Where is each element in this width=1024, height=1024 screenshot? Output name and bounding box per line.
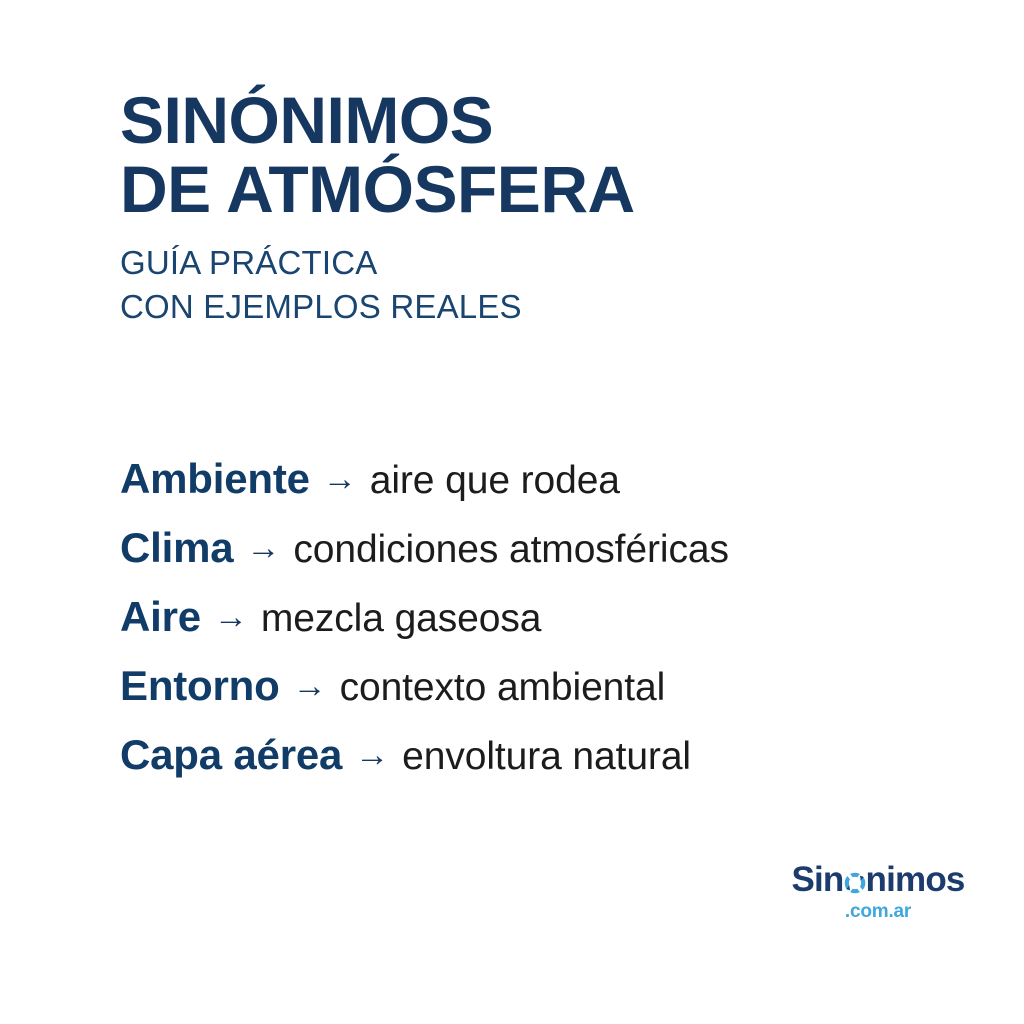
logo-domain: .com.ar <box>793 902 963 921</box>
list-item: Ambiente → aire que rodea <box>120 455 1000 524</box>
logo-wordmark: Sin nimos <box>793 862 963 897</box>
list-item: Clima → condiciones atmosféricas <box>120 524 1000 593</box>
logo-text-before: Sin <box>791 862 843 897</box>
arrow-icon: → <box>233 529 293 568</box>
logo-text-after: nimos <box>866 862 965 897</box>
list-item: Entorno → contexto ambiental <box>120 662 1000 731</box>
infographic-card: SINÓNIMOS DE ATMÓSFERA GUÍA PRÁCTICA CON… <box>0 0 1024 1024</box>
synonym-term: Ambiente <box>120 455 310 503</box>
synonym-term: Entorno <box>120 662 280 710</box>
arrow-icon: → <box>201 598 261 637</box>
synonym-description: envoltura natural <box>402 735 691 779</box>
arrow-icon: → <box>342 736 402 775</box>
arrow-icon: → <box>310 460 370 499</box>
page-title: SINÓNIMOS DE ATMÓSFERA <box>120 86 940 223</box>
circular-arrows-o-icon <box>843 871 867 895</box>
synonym-description: mezcla gaseosa <box>261 597 541 641</box>
synonym-term: Clima <box>120 524 233 572</box>
page-subtitle: GUÍA PRÁCTICA CON EJEMPLOS REALES <box>120 223 940 328</box>
synonym-description: contexto ambiental <box>340 666 666 710</box>
header: SINÓNIMOS DE ATMÓSFERA GUÍA PRÁCTICA CON… <box>120 86 940 328</box>
brand-logo[interactable]: Sin nimos .com.ar <box>793 862 963 921</box>
synonym-term: Aire <box>120 593 201 641</box>
synonym-description: aire que rodea <box>370 459 620 503</box>
arrow-icon: → <box>280 667 340 706</box>
synonym-description: condiciones atmosféricas <box>293 528 728 572</box>
synonym-term: Capa aérea <box>120 731 342 779</box>
list-item: Aire → mezcla gaseosa <box>120 593 1000 662</box>
list-item: Capa aérea → envoltura natural <box>120 731 1000 800</box>
synonym-list: Ambiente → aire que rodea Clima → condic… <box>120 455 1000 800</box>
